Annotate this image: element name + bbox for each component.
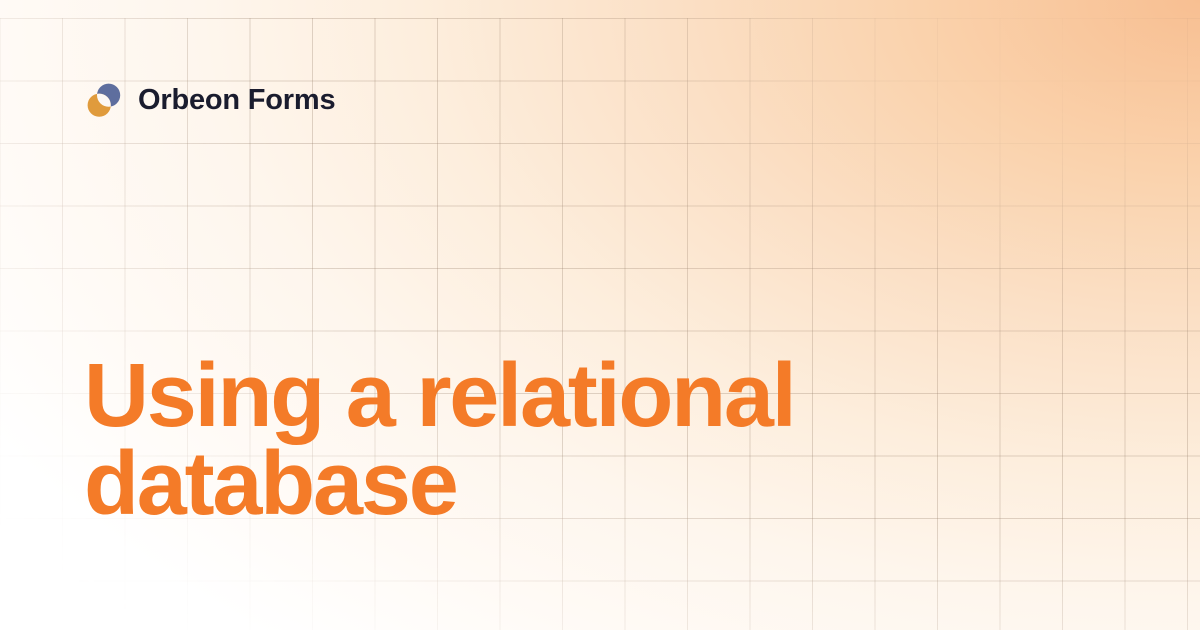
brand-lockup[interactable]: Orbeon Forms bbox=[84, 80, 335, 120]
orbeon-logo-icon bbox=[84, 80, 124, 120]
brand-name-label: Orbeon Forms bbox=[138, 86, 335, 115]
page-title: Using a relational database bbox=[84, 352, 984, 528]
headline-line-1: Using a relational bbox=[84, 352, 984, 440]
social-card-canvas: Orbeon Forms Using a relational database bbox=[0, 0, 1200, 630]
headline-line-2: database bbox=[84, 440, 984, 528]
